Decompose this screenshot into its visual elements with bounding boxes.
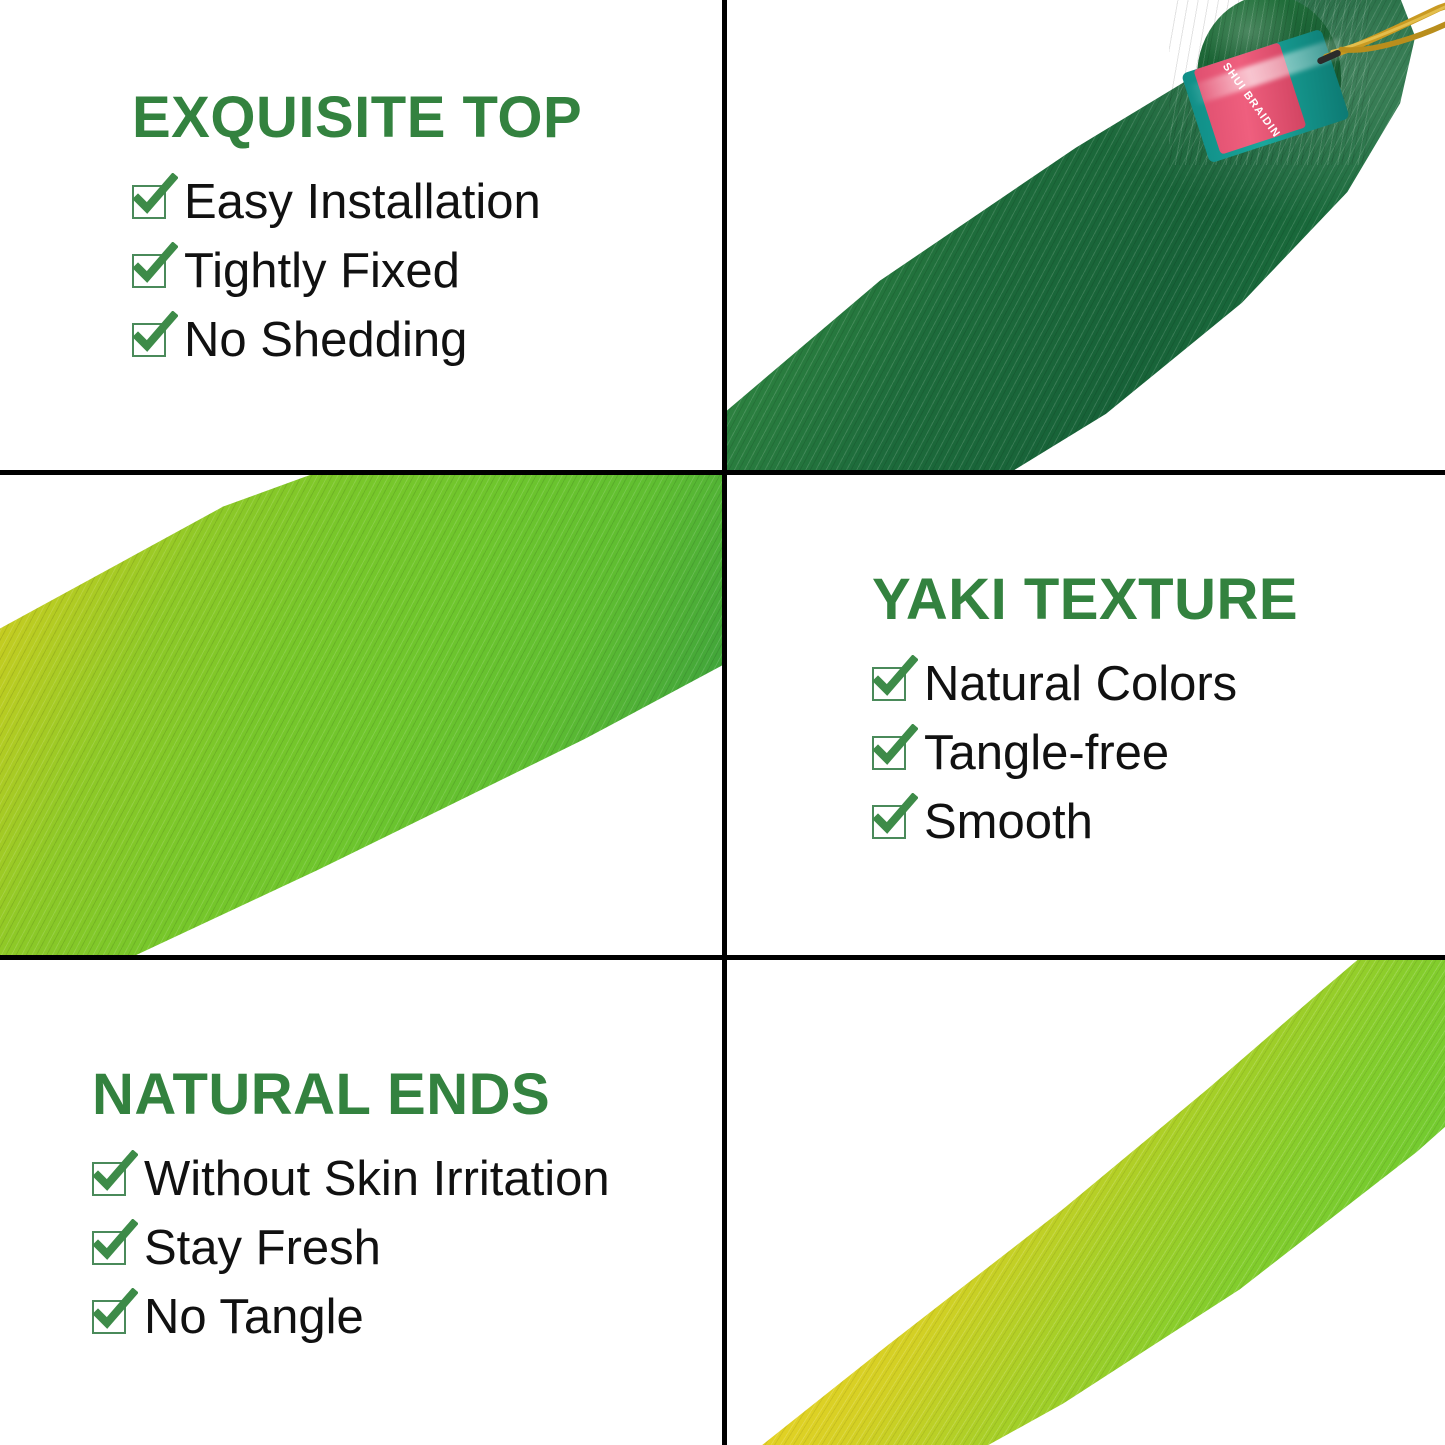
hair-body [741, 960, 1445, 1445]
feature-item: Tightly Fixed [132, 244, 722, 299]
feature-label: Easy Installation [184, 175, 541, 230]
check-mark-icon [872, 655, 918, 701]
divider-vertical [722, 0, 727, 1445]
check-mark-icon [872, 724, 918, 770]
hair-striations [727, 960, 1445, 1445]
heading-natural-ends: NATURAL ENDS [92, 1065, 722, 1126]
feature-list-exquisite-top: Easy Installation Tightly Fixed [132, 175, 722, 382]
feature-item: Easy Installation [132, 175, 722, 230]
checkbox-checked-icon [872, 805, 906, 839]
checkbox-checked-icon [132, 185, 166, 219]
heading-yaki-texture: YAKI TEXTURE [872, 570, 1445, 631]
hair-tip-illustration [727, 960, 1445, 1445]
check-mark-icon [872, 793, 918, 839]
gold-hook-icon [1309, 0, 1445, 71]
checkbox-checked-icon [92, 1300, 126, 1334]
panel-yaki-texture: YAKI TEXTURE Natural Colors [727, 475, 1445, 955]
feature-item: Stay Fresh [92, 1221, 722, 1276]
checkbox-checked-icon [132, 254, 166, 288]
check-mark-icon [92, 1288, 138, 1334]
feature-item: Without Skin Irritation [92, 1152, 722, 1207]
check-mark-icon [132, 311, 178, 357]
checkbox-checked-icon [872, 736, 906, 770]
heading-exquisite-top: EXQUISITE TOP [132, 88, 722, 149]
divider-horizontal-top [0, 470, 1445, 475]
feature-label: Natural Colors [924, 657, 1237, 712]
panel-exquisite-top: EXQUISITE TOP Easy Installation [0, 0, 722, 470]
feature-item: Natural Colors [872, 657, 1445, 712]
hair-body [0, 475, 722, 955]
feature-label: Without Skin Irritation [144, 1152, 610, 1207]
hair-bundle-illustration: N SHUI BRAIDING [727, 0, 1445, 470]
panel-ombre-hair-image [0, 475, 722, 955]
panel-tapered-tip-image [727, 960, 1445, 1445]
feature-item: No Shedding [132, 313, 722, 368]
hair-striations [0, 475, 722, 955]
feature-item: No Tangle [92, 1290, 722, 1345]
feature-label: Tightly Fixed [184, 244, 460, 299]
feature-label: Stay Fresh [144, 1221, 381, 1276]
feature-list-natural-ends: Without Skin Irritation Stay Fresh [92, 1152, 722, 1359]
hair-ombre-illustration [0, 475, 722, 955]
feature-item: Tangle-free [872, 726, 1445, 781]
feature-label: No Shedding [184, 313, 467, 368]
product-feature-infographic: EXQUISITE TOP Easy Installation [0, 0, 1445, 1445]
divider-horizontal-bottom [0, 955, 1445, 960]
check-mark-icon [92, 1219, 138, 1265]
checkbox-checked-icon [132, 323, 166, 357]
feature-list-yaki-texture: Natural Colors Tangle-free [872, 657, 1445, 864]
panel-product-bundle-image: N SHUI BRAIDING [727, 0, 1445, 470]
feature-item: Smooth [872, 795, 1445, 850]
checkbox-checked-icon [872, 667, 906, 701]
feature-label: No Tangle [144, 1290, 364, 1345]
checkbox-checked-icon [92, 1162, 126, 1196]
check-mark-icon [132, 242, 178, 288]
checkbox-checked-icon [92, 1231, 126, 1265]
feature-label: Smooth [924, 795, 1093, 850]
feature-label: Tangle-free [924, 726, 1169, 781]
panel-natural-ends: NATURAL ENDS Without Skin Irritation [0, 960, 722, 1445]
check-mark-icon [132, 173, 178, 219]
check-mark-icon [92, 1150, 138, 1196]
